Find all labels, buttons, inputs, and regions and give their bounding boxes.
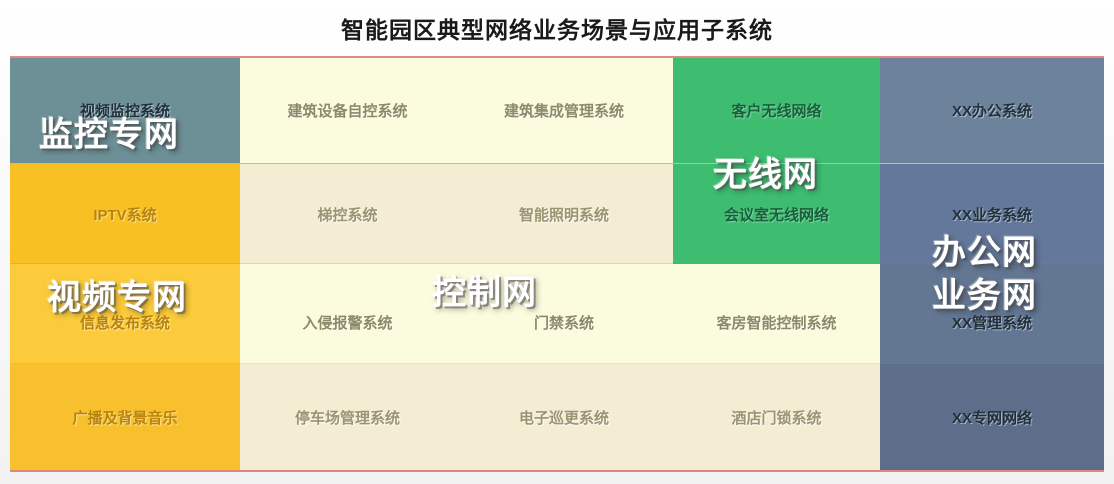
cell-xx-office-system[interactable]: XX办公系统	[880, 58, 1104, 163]
cell-label: 视频监控系统	[80, 100, 170, 121]
cell-label: XX管理系统	[952, 312, 1032, 333]
cell-label: XX业务系统	[952, 204, 1032, 225]
row-divider-3	[10, 363, 1104, 364]
cell-video-surveillance[interactable]: 视频监控系统	[10, 58, 240, 163]
network-scenario-matrix: 视频监控系统 建筑设备自控系统 建筑集成管理系统 客户无线网络 XX办公系统 I…	[10, 58, 1104, 470]
cell-label: XX专网网络	[952, 407, 1032, 428]
cell-label: 停车场管理系统	[295, 407, 400, 428]
slide-canvas: 智能园区典型网络业务场景与应用子系统 视频监控系统 建筑设备自控系统 建筑集成管…	[0, 0, 1114, 484]
cell-building-equipment-automation[interactable]: 建筑设备自控系统	[240, 58, 455, 163]
cell-label: 广播及背景音乐	[72, 407, 177, 428]
cell-label: 建筑集成管理系统	[504, 100, 624, 121]
cell-xx-private-network[interactable]: XX专网网络	[880, 364, 1104, 470]
cell-parking-management[interactable]: 停车场管理系统	[240, 364, 455, 470]
cell-guestroom-intelligent-control[interactable]: 客房智能控制系统	[673, 264, 880, 364]
cell-guest-wireless-network[interactable]: 客户无线网络	[673, 58, 880, 163]
cell-building-integrated-management[interactable]: 建筑集成管理系统	[455, 58, 673, 163]
cell-broadcast-background-music[interactable]: 广播及背景音乐	[10, 364, 240, 470]
cell-information-release[interactable]: 信息发布系统	[10, 264, 240, 364]
cell-xx-management-system[interactable]: XX管理系统	[880, 264, 1104, 364]
cell-access-control[interactable]: 门禁系统	[455, 264, 673, 364]
cell-label: 客户无线网络	[731, 100, 821, 121]
cell-electronic-patrol[interactable]: 电子巡更系统	[455, 364, 673, 470]
cell-iptv-system[interactable]: IPTV系统	[10, 164, 240, 264]
row-divider-2	[10, 263, 1104, 264]
cell-intelligent-lighting[interactable]: 智能照明系统	[455, 164, 673, 264]
cell-label: 客房智能控制系统	[716, 312, 836, 333]
cell-hotel-door-lock[interactable]: 酒店门锁系统	[673, 364, 880, 470]
cell-label: 建筑设备自控系统	[287, 100, 407, 121]
cell-label: 信息发布系统	[80, 312, 170, 333]
cell-label: 门禁系统	[534, 312, 594, 333]
cell-meeting-room-wireless[interactable]: 会议室无线网络	[673, 164, 880, 264]
page-title: 智能园区典型网络业务场景与应用子系统	[341, 11, 773, 45]
cell-label: 智能照明系统	[519, 204, 609, 225]
row-divider-1	[10, 163, 1104, 164]
cell-label: 梯控系统	[317, 204, 377, 225]
cell-elevator-control[interactable]: 梯控系统	[240, 164, 455, 264]
slide-title-bar: 智能园区典型网络业务场景与应用子系统	[0, 0, 1114, 56]
cell-xx-business-system[interactable]: XX业务系统	[880, 164, 1104, 264]
cell-label: 酒店门锁系统	[731, 407, 821, 428]
cell-label: 电子巡更系统	[519, 407, 609, 428]
cell-label: IPTV系统	[93, 204, 156, 225]
cell-label: 入侵报警系统	[302, 312, 392, 333]
cell-intrusion-alarm[interactable]: 入侵报警系统	[240, 264, 455, 364]
cell-label: XX办公系统	[952, 100, 1032, 121]
cell-label: 会议室无线网络	[724, 204, 829, 225]
